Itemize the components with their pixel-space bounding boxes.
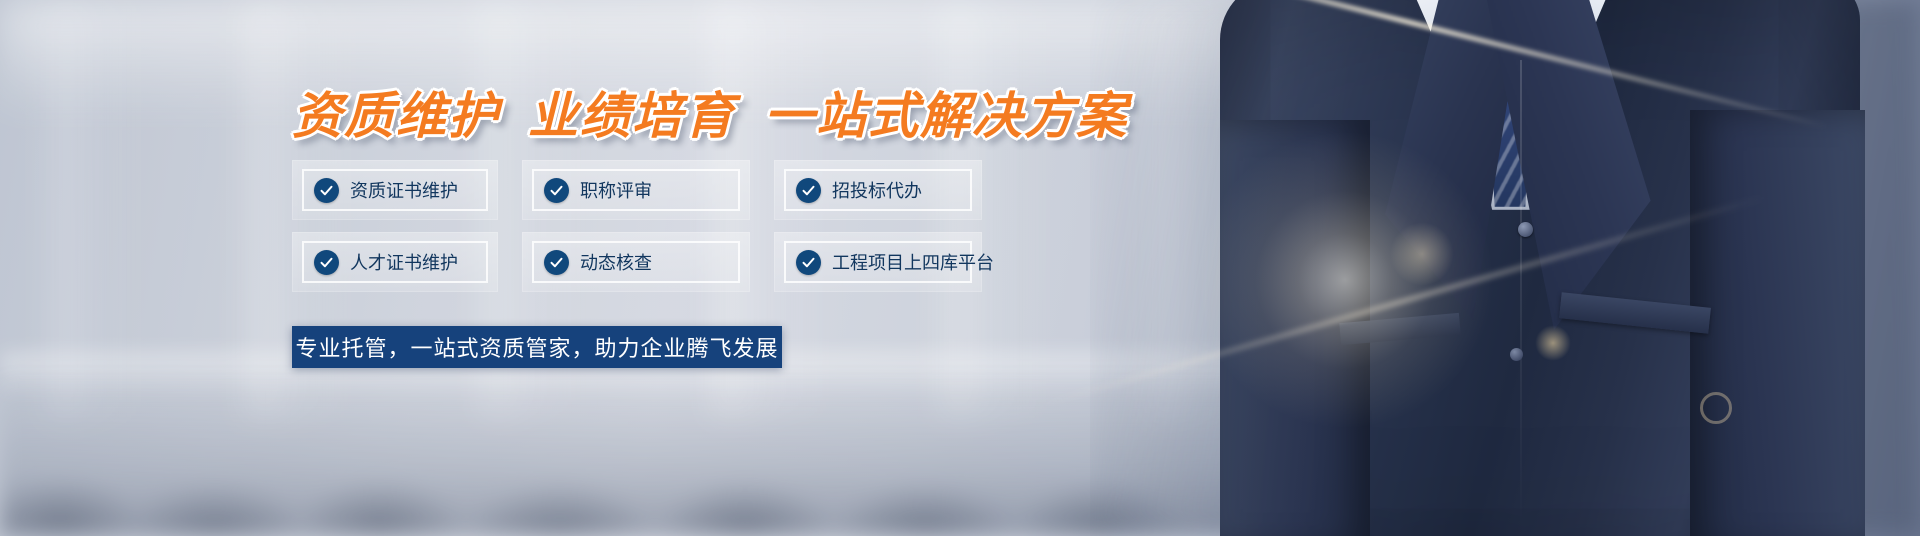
feature-grid: 资质证书维护 职称评审 xyxy=(292,160,982,292)
check-circle-icon xyxy=(314,250,339,275)
feature-item-talent-certificate-maintenance[interactable]: 人才证书维护 xyxy=(292,232,498,292)
jacket-button-lower xyxy=(1510,348,1523,361)
check-circle-icon xyxy=(314,178,339,203)
feature-cell-4: 人才证书维护 xyxy=(292,232,498,292)
promotional-banner: 资质维护业绩培育一站式解决方案 资质证书维护 xyxy=(0,0,1920,536)
feature-label: 工程项目上四库平台 xyxy=(832,249,994,275)
jacket-seam xyxy=(1520,60,1522,530)
feature-label: 人才证书维护 xyxy=(350,249,458,275)
feature-content: 工程项目上四库平台 xyxy=(784,249,994,275)
feature-content: 动态核查 xyxy=(532,249,652,275)
feature-item-dynamic-inspection[interactable]: 动态核查 xyxy=(522,232,750,292)
slogan-bar: 专业托管，一站式资质管家，助力企业腾飞发展 xyxy=(292,326,782,368)
feature-item-project-four-database-platform[interactable]: 工程项目上四库平台 xyxy=(774,232,982,292)
feature-label: 动态核查 xyxy=(580,249,652,275)
feature-cell-1: 资质证书维护 xyxy=(292,160,498,220)
feature-content: 职称评审 xyxy=(532,177,652,203)
feature-cell-5: 动态核查 xyxy=(522,232,750,292)
suit-sleeve-right xyxy=(1690,110,1865,536)
headline-part-3: 一站式解决方案 xyxy=(764,87,1128,145)
check-circle-icon xyxy=(544,178,569,203)
feature-content: 资质证书维护 xyxy=(302,177,458,203)
headline-part-1: 资质维护 xyxy=(292,87,500,145)
feature-cell-2: 职称评审 xyxy=(522,160,750,220)
banner-headline: 资质维护业绩培育一站式解决方案 xyxy=(292,76,1128,148)
feature-item-qualification-certificate-maintenance[interactable]: 资质证书维护 xyxy=(292,160,498,220)
banner-content: 资质维护业绩培育一站式解决方案 资质证书维护 xyxy=(0,0,1100,536)
feature-label: 资质证书维护 xyxy=(350,177,458,203)
slogan-text: 专业托管，一站式资质管家，助力企业腾飞发展 xyxy=(295,331,778,363)
feature-cell-3: 招投标代办 xyxy=(774,160,982,220)
feature-item-title-evaluation[interactable]: 职称评审 xyxy=(522,160,750,220)
check-circle-icon xyxy=(544,250,569,275)
feature-label: 职称评审 xyxy=(580,177,652,203)
check-circle-icon xyxy=(796,250,821,275)
businessman-photo xyxy=(1090,0,1920,536)
feature-content: 人才证书维护 xyxy=(302,249,458,275)
jacket-button-upper xyxy=(1518,222,1533,237)
headline-part-2: 业绩培育 xyxy=(528,87,736,145)
feature-content: 招投标代办 xyxy=(784,177,922,203)
feature-cell-6: 工程项目上四库平台 xyxy=(774,232,982,292)
feature-label: 招投标代办 xyxy=(832,177,922,203)
check-circle-icon xyxy=(796,178,821,203)
feature-item-bidding-agency[interactable]: 招投标代办 xyxy=(774,160,982,220)
